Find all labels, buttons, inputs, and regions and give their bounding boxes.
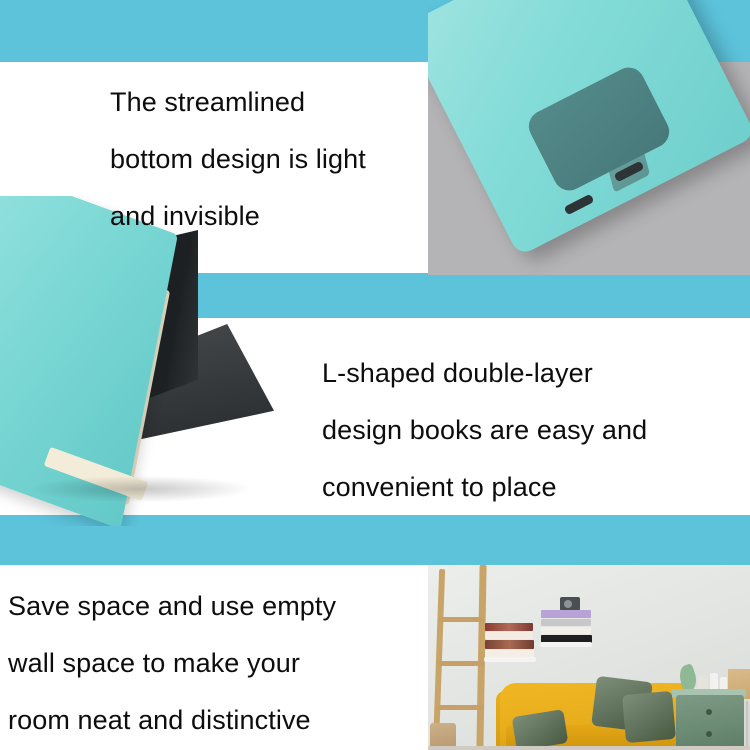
copy-line: bottom design is light (110, 131, 366, 188)
notebook-on-black-stand-photo (0, 196, 300, 526)
green-pillow-left (512, 709, 569, 750)
shelf-left-book-1 (485, 623, 533, 631)
shelf-right-book-2 (541, 619, 591, 626)
feature-copy-l-shaped-double-layer: L-shaped double-layer design books are e… (322, 345, 647, 516)
copy-line: design books are easy and (322, 402, 647, 459)
feature-copy-streamlined-bottom: The streamlined bottom design is light a… (110, 74, 366, 245)
shelf-left-book-2 (485, 632, 533, 639)
product-feature-infographic: The streamlined bottom design is light a… (0, 0, 750, 750)
feature-copy-save-space: Save space and use empty wall space to m… (8, 578, 336, 749)
camera-lens-icon (564, 600, 572, 608)
ladder-rung-bottom (438, 705, 484, 710)
cabinet-knob-lower (706, 731, 712, 737)
copy-line: convenient to place (322, 459, 647, 516)
green-pillow-right (622, 691, 676, 743)
copy-line: room neat and distinctive (8, 692, 336, 749)
ladder-rung-middle (438, 661, 484, 666)
cabinet-knob-upper (706, 709, 712, 715)
shelf-right-book-3 (541, 627, 591, 634)
copy-line: L-shaped double-layer (322, 345, 647, 402)
ladder-rung-top (438, 617, 484, 622)
shelf-left-book-3 (485, 640, 534, 649)
floating-shelf-right (540, 642, 592, 647)
copy-line: The streamlined (110, 74, 366, 131)
drop-shadow (30, 476, 250, 502)
floating-shelf-left (484, 657, 536, 662)
copy-line: and invisible (110, 188, 366, 245)
room-floor (428, 746, 750, 750)
notebook-flat-on-grey-photo (428, 0, 750, 275)
copy-line: wall space to make your (8, 635, 336, 692)
shelf-left-book-4 (485, 650, 534, 657)
shelf-right-book-1 (541, 610, 591, 618)
green-cabinet (676, 695, 744, 750)
copy-line: Save space and use empty (8, 578, 336, 635)
living-room-wall-shelf-photo (428, 565, 750, 750)
